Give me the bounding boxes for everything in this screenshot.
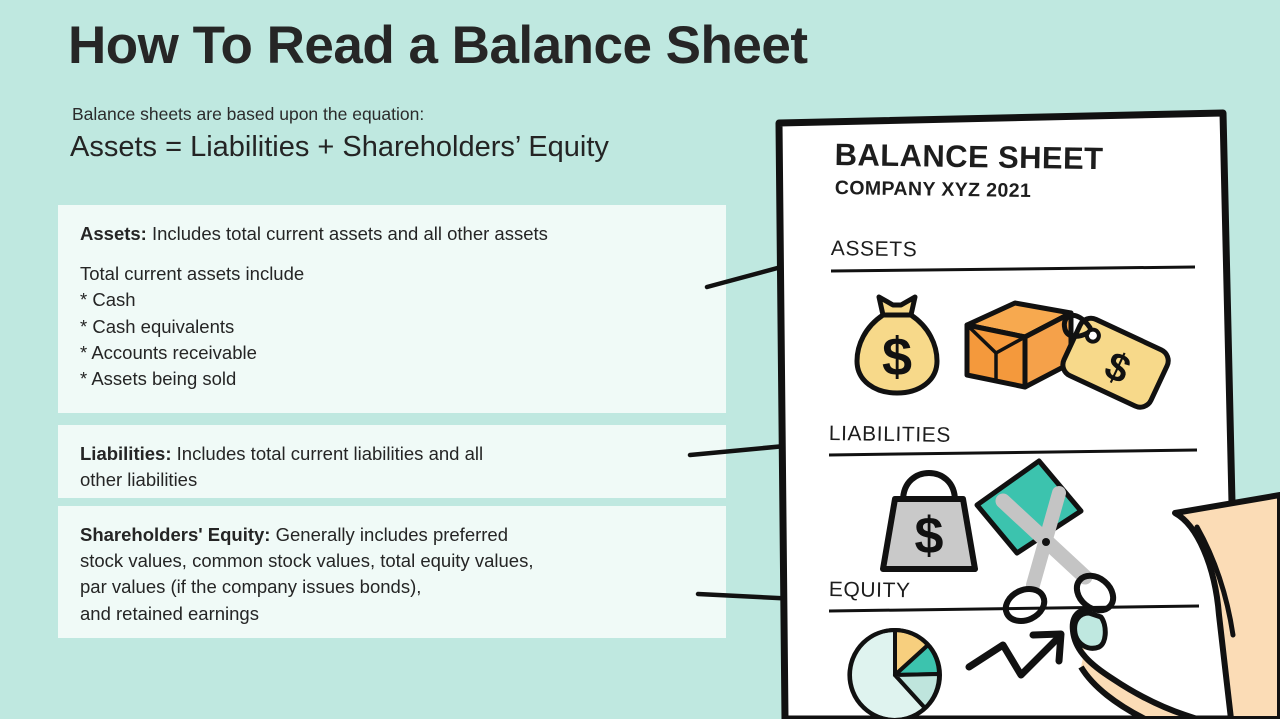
panel-assets: Assets: Includes total current assets an… xyxy=(58,205,726,413)
panel-assets-item-cash-equivalents: * Cash equivalents xyxy=(80,314,704,340)
panel-equity-line4: and retained earnings xyxy=(80,601,704,627)
panel-liabilities-heading: Liabilities: Includes total current liab… xyxy=(80,441,704,467)
panel-liabilities-heading-rest: Includes total current liabilities and a… xyxy=(172,443,484,464)
panel-equity-heading-label: Shareholders' Equity: xyxy=(80,524,270,545)
panel-assets-item-assets-being-sold: * Assets being sold xyxy=(80,366,704,392)
spacer xyxy=(80,247,704,261)
section-label-assets: ASSETS xyxy=(831,237,918,262)
section-label-equity: EQUITY xyxy=(829,578,911,603)
panel-equity-heading: Shareholders' Equity: Generally includes… xyxy=(80,522,704,548)
equation-intro-text: Balance sheets are based upon the equati… xyxy=(72,104,424,125)
panel-equity-heading-rest: Generally includes preferred xyxy=(270,524,508,545)
panel-assets-subheading: Total current assets include xyxy=(80,261,704,287)
panel-equity-line3: par values (if the company issues bonds)… xyxy=(80,574,704,600)
panel-assets-heading: Assets: Includes total current assets an… xyxy=(80,221,704,247)
panel-assets-item-cash: * Cash xyxy=(80,287,704,313)
balance-sheet-document: $ $ $ xyxy=(745,95,1280,719)
paper-sheet xyxy=(779,113,1237,719)
infographic-root: How To Read a Balance Sheet Balance shee… xyxy=(0,0,1280,719)
svg-text:$: $ xyxy=(915,507,944,565)
panel-liabilities: Liabilities: Includes total current liab… xyxy=(58,425,726,498)
panel-equity-line2: stock values, common stock values, total… xyxy=(80,548,704,574)
panel-assets-item-accounts-receivable: * Accounts receivable xyxy=(80,340,704,366)
pie-chart-icon xyxy=(849,630,940,719)
document-subtitle: COMPANY XYZ 2021 xyxy=(835,177,1032,203)
panel-assets-heading-label: Assets: xyxy=(80,223,147,244)
panel-assets-heading-rest: Includes total current assets and all ot… xyxy=(147,223,548,244)
panel-equity: Shareholders' Equity: Generally includes… xyxy=(58,506,726,638)
balance-sheet-equation: Assets = Liabilities + Shareholders’ Equ… xyxy=(70,131,609,164)
panel-liabilities-heading-label: Liabilities: xyxy=(80,443,172,464)
document-title: BALANCE SHEET xyxy=(834,137,1103,177)
page-title: How To Read a Balance Sheet xyxy=(68,18,808,74)
svg-text:$: $ xyxy=(882,327,912,387)
panel-liabilities-line2: other liabilities xyxy=(80,467,704,493)
section-label-liabilities: LIABILITIES xyxy=(829,422,952,448)
